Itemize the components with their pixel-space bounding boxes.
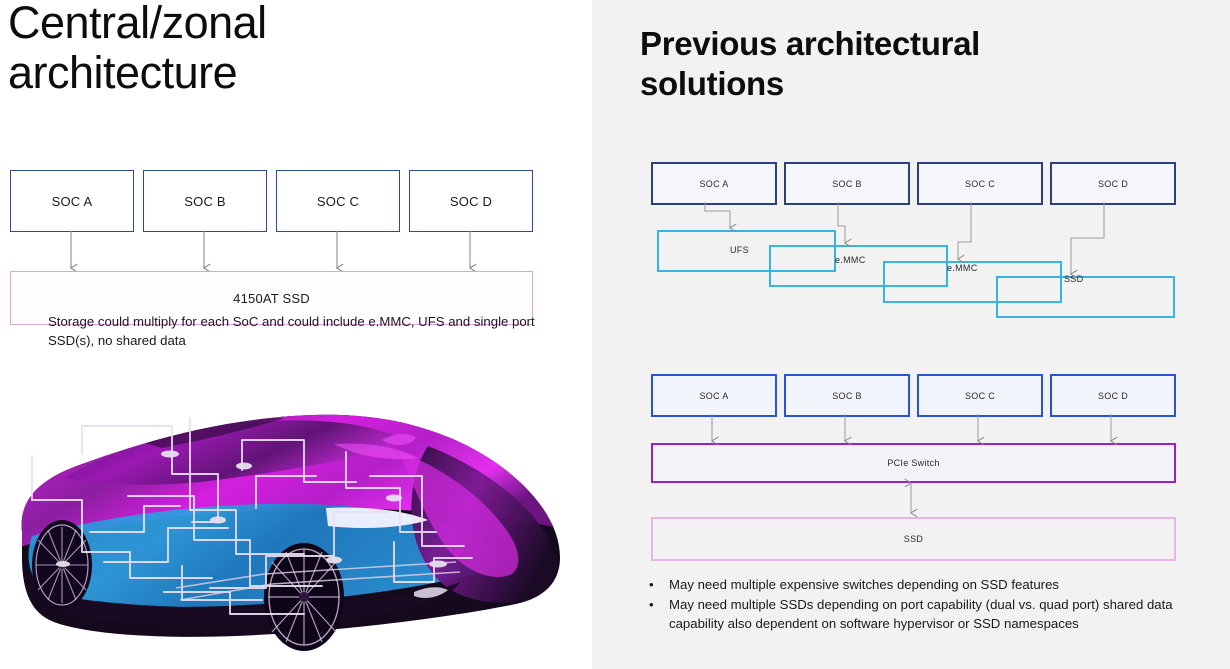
car-illustration [4, 382, 579, 657]
r2-ssd-box: SSD [651, 517, 1176, 561]
r1-note-text: Storage could multiply for each SoC and … [48, 313, 578, 350]
bullet-dot-icon-2: • [645, 595, 669, 633]
r1-storage-label-ufs: UFS [730, 245, 749, 255]
r2-pcie-switch-box: PCIe Switch [651, 443, 1176, 483]
r2-ssd-label: SSD [904, 534, 923, 544]
bullet-item-2: • May need multiple SSDs depending on po… [645, 595, 1185, 633]
r1-soc-label-b: SOC B [832, 179, 862, 189]
left-storage-label: 4150AT SSD [233, 291, 310, 306]
right-bullet-list: • May need multiple expensive switches d… [645, 575, 1185, 634]
slide-root: Central/zonal architecture SOC A SOC B S… [0, 0, 1230, 669]
right-panel-title: Previous architectural solutions [640, 24, 1090, 105]
r2-soc-box-d: SOC D [1050, 374, 1176, 417]
r2-soc-label-d: SOC D [1098, 391, 1128, 401]
bullet-dot-icon-1: • [645, 575, 669, 594]
car-xray-svg [4, 382, 579, 657]
r1-soc-label-d: SOC D [1098, 179, 1128, 189]
r1-soc-box-b: SOC B [784, 162, 910, 205]
r1-storage-label-ssd: SSD [1064, 274, 1083, 284]
r1-soc-label-c: SOC C [965, 179, 995, 189]
r2-soc-box-c: SOC C [917, 374, 1043, 417]
right-panel: Previous architectural solutions [592, 0, 1230, 669]
r1-storage-label-emmc-1: e.MMC [835, 255, 866, 265]
bullet-text-2: May need multiple SSDs depending on port… [669, 595, 1185, 633]
r2-soc-label-b: SOC B [832, 391, 862, 401]
r2-soc-box-b: SOC B [784, 374, 910, 417]
r1-soc-box-a: SOC A [651, 162, 777, 205]
r1-soc-label-a: SOC A [699, 179, 728, 189]
r2-pcie-switch-label: PCIe Switch [887, 458, 939, 468]
r2-soc-label-a: SOC A [699, 391, 728, 401]
r1-storage-box-ssd [996, 276, 1175, 318]
bullet-item-1: • May need multiple expensive switches d… [645, 575, 1185, 594]
r2-soc-box-a: SOC A [651, 374, 777, 417]
bullet-text-1: May need multiple expensive switches dep… [669, 575, 1185, 594]
r1-storage-label-emmc-2: e.MMC [947, 263, 978, 273]
r1-soc-box-c: SOC C [917, 162, 1043, 205]
r1-soc-box-d: SOC D [1050, 162, 1176, 205]
r2-soc-label-c: SOC C [965, 391, 995, 401]
